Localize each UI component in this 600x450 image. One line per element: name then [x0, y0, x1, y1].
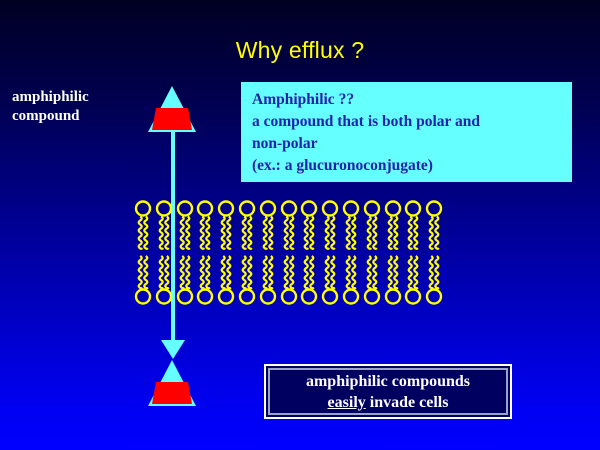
definition-line-2: a compound that is both polar and [252, 111, 572, 133]
lipid-molecule-pair [279, 200, 299, 305]
lipid-molecule-pair [362, 200, 382, 305]
arrow-head-icon [161, 340, 185, 359]
lipid-molecule-pair [299, 200, 319, 305]
nonpolar-tail-icon [152, 108, 192, 130]
definition-callout: Amphiphilic ?? a compound that is both p… [241, 82, 572, 182]
nonpolar-tail-icon [152, 382, 192, 404]
page-title: Why efflux ? [0, 37, 600, 64]
conclusion-line-2-rest: invade cells [366, 394, 449, 411]
slide-canvas: Why efflux ? amphiphilic compound Amphip… [0, 0, 600, 450]
definition-line-4: (ex.: a glucuronoconjugate) [252, 155, 572, 177]
conclusion-emphasis: easily [328, 394, 366, 411]
definition-line-1: Amphiphilic ?? [252, 89, 572, 111]
lipid-molecule-pair [154, 200, 174, 305]
compound-label: amphiphilic compound [12, 88, 142, 126]
lipid-molecule-pair [424, 200, 444, 305]
compound-label-line2: compound [12, 107, 142, 126]
lipid-molecule-pair [237, 200, 257, 305]
amphiphilic-compound-marker-top [148, 86, 196, 132]
lipid-molecule-pair [341, 200, 361, 305]
lipid-molecule-pair [258, 200, 278, 305]
lipid-bilayer-diagram [133, 200, 445, 305]
lipid-molecule-pair [320, 200, 340, 305]
lipid-molecule-pair [403, 200, 423, 305]
conclusion-callout: amphiphilic compounds easily invade cell… [264, 364, 512, 419]
lipid-molecule-pair [175, 200, 195, 305]
lipid-molecule-pair [133, 200, 153, 305]
lipid-molecule-pair [216, 200, 236, 305]
lipid-molecule-pair [195, 200, 215, 305]
conclusion-line-2: easily invade cells [328, 392, 449, 413]
lipid-molecule-pair [383, 200, 403, 305]
conclusion-line-1: amphiphilic compounds [306, 371, 470, 392]
compound-label-line1: amphiphilic [12, 88, 142, 107]
definition-line-3: non-polar [252, 133, 572, 155]
amphiphilic-compound-marker-bottom [148, 360, 196, 406]
